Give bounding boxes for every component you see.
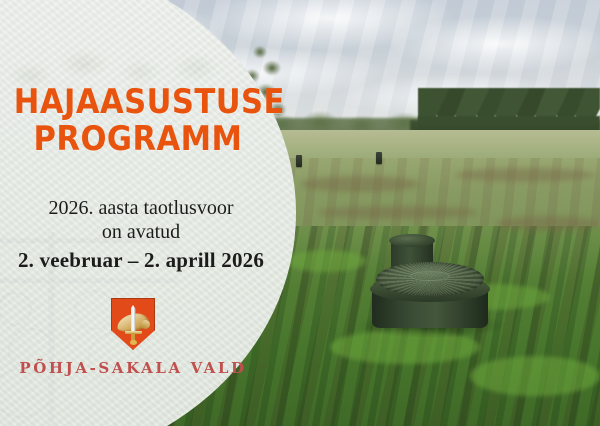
sword-blade-icon (131, 305, 136, 332)
poster: HAJAASUSTUSE PROGRAMM 2026. aasta taotlu… (0, 0, 600, 426)
application-period: 2. veebruar – 2. aprill 2026 (0, 247, 282, 274)
poster-content: HAJAASUSTUSE PROGRAMM 2026. aasta taotlu… (0, 0, 300, 426)
septic-tank-large (366, 258, 494, 334)
municipality-name: PÕHJA-SAKALA VALD (0, 359, 266, 377)
headline-line-2: PROGRAMM (14, 121, 262, 158)
coat-of-arms-icon (111, 298, 155, 350)
dirt-patch (496, 216, 600, 231)
announcement-line-1: 2026. aasta taotlusvoor (0, 196, 282, 220)
pipe-marker (376, 152, 382, 164)
dirt-patch (455, 168, 595, 182)
announcement-text: 2026. aasta taotlusvoor on avatud 2. vee… (0, 196, 282, 274)
dirt-patch (318, 206, 478, 219)
announcement-line-2: on avatud (0, 220, 282, 244)
sword-pommel-icon (130, 340, 137, 345)
headline-line-1: HAJAASUSTUSE (14, 84, 262, 121)
page-title: HAJAASUSTUSE PROGRAMM (0, 84, 276, 158)
dirt-patch (300, 176, 420, 192)
grass-tuft (470, 356, 600, 396)
